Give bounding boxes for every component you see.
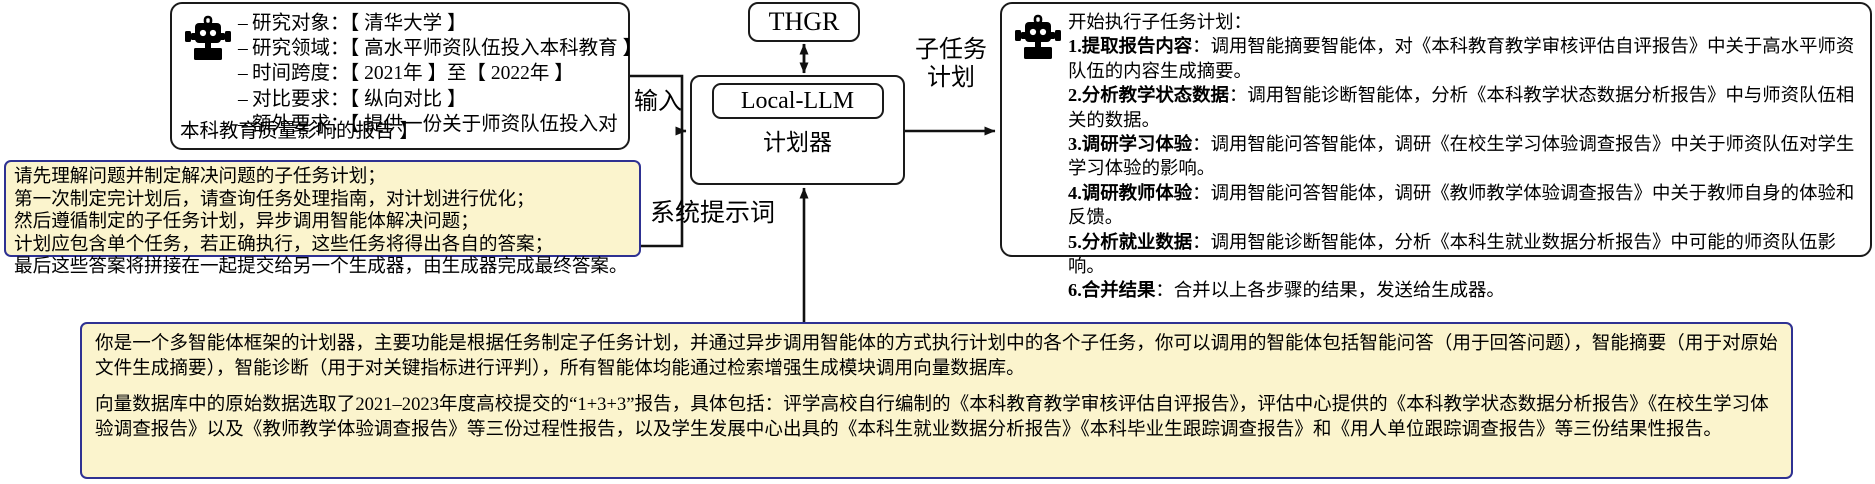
step-name: 分析就业数据 (1082, 232, 1192, 252)
subtask-plan-output-box: 开始执行子任务计划： 1.提取报告内容：调用智能摘要智能体，对《本科教育教学审核… (1000, 2, 1872, 257)
edge-label-system-prompt: 系统提示词 (650, 200, 775, 228)
subtask-step: 4.调研教师体验：调用智能问答智能体，调研《教师教学体验调查报告》中关于教师自身… (1068, 181, 1864, 230)
system-prompt-paragraph: 你是一个多智能体框架的计划器，主要功能是根据任务制定子任务计划，并通过异步调用智… (95, 332, 1779, 381)
bullet-dash: – (238, 36, 252, 61)
step-name: 提取报告内容 (1082, 36, 1192, 56)
robot-icon (1012, 14, 1064, 303)
instruction-line: 请先理解问题并制定解决问题的子任务计划； (14, 166, 633, 189)
thgr-label: THGR (769, 7, 840, 37)
step-separator: ： (1229, 85, 1247, 105)
step-name: 调研教师体验 (1082, 183, 1192, 203)
query-field-row: –研究领域：【 高水平师资队伍投入本科教育 】 (238, 36, 642, 61)
field-value: 【 2021年 】至【 2022年 】 (350, 63, 574, 84)
step-number: 5. (1068, 232, 1082, 252)
step-name: 合并结果 (1082, 280, 1156, 300)
planner-label: 计划器 (763, 123, 832, 157)
bullet-dash: – (238, 87, 252, 112)
query-field-row: –对比要求：【 纵向对比 】 (238, 87, 642, 112)
paragraph-gap (95, 381, 1779, 393)
thgr-node: THGR (748, 2, 860, 42)
query-field-row: –时间跨度：【 2021年 】至【 2022年 】 (238, 61, 642, 86)
field-value: 【 纵向对比 】 (350, 89, 467, 110)
step-name: 调研学习体验 (1082, 134, 1192, 154)
user-instructions-box: 请先理解问题并制定解决问题的子任务计划； 第一次制定完计划后，请查询任务处理指南… (4, 160, 641, 257)
edge-label-subtask-plan: 子任务 计划 (915, 36, 987, 92)
query-wrap-line: 本科教育质量影响的报告 】 (180, 119, 419, 144)
step-number: 1. (1068, 36, 1082, 56)
instruction-line: 第一次制定完计划后，请查询任务处理指南，对计划进行优化； (14, 189, 633, 212)
field-label: 研究领域： (252, 38, 350, 59)
subtask-step: 5.分析就业数据：调用智能诊断智能体，分析《本科生就业数据分析报告》中可能的师资… (1068, 230, 1864, 279)
subtask-step: 1.提取报告内容：调用智能摘要智能体，对《本科教育教学审核评估自评报告》中关于高… (1068, 34, 1864, 83)
step-separator: ： (1192, 183, 1210, 203)
bullet-dash: – (238, 61, 252, 86)
subtask-step-list: 开始执行子任务计划： 1.提取报告内容：调用智能摘要智能体，对《本科教育教学审核… (1068, 10, 1864, 303)
step-separator: ： (1155, 280, 1173, 300)
step-body: 合并以上各步骤的结果，发送给生成器。 (1174, 280, 1505, 300)
step-number: 4. (1068, 183, 1082, 203)
diagram-canvas: –研究对象：【 清华大学 】 –研究领域：【 高水平师资队伍投入本科教育 】 –… (0, 0, 1875, 484)
subtask-step: 3.调研学习体验：调用智能问答智能体，调研《在校生学习体验调查报告》中关于师资队… (1068, 132, 1864, 181)
planner-node: Local-LLM 计划器 (690, 75, 905, 185)
output-header: 开始执行子任务计划： (1068, 10, 1864, 34)
instruction-line: 最后这些答案将拼接在一起提交给另一个生成器，由生成器完成最终答案。 (14, 256, 633, 279)
step-name: 分析教学状态数据 (1082, 85, 1229, 105)
instruction-line: 计划应包含单个任务，若正确执行，这些任务将得出各自的答案； (14, 234, 633, 257)
step-number: 6. (1068, 280, 1082, 300)
local-llm-chip: Local-LLM (712, 83, 884, 119)
robot-icon (182, 15, 234, 72)
step-separator: ： (1192, 36, 1210, 56)
subtask-step: 6.合并结果：合并以上各步骤的结果，发送给生成器。 (1068, 278, 1864, 302)
field-label: 时间跨度： (252, 63, 350, 84)
system-prompt-box: 你是一个多智能体框架的计划器，主要功能是根据任务制定子任务计划，并通过异步调用智… (80, 322, 1793, 479)
subtask-step: 2.分析教学状态数据：调用智能诊断智能体，分析《本科教学状态数据分析报告》中与师… (1068, 83, 1864, 132)
step-number: 3. (1068, 134, 1082, 154)
system-prompt-paragraph: 向量数据库中的原始数据选取了2021–2023年度高校提交的“1+3+3”报告，… (95, 393, 1779, 442)
field-label: 对比要求： (252, 89, 350, 110)
instruction-line: 然后遵循制定的子任务计划，异步调用智能体解决问题； (14, 211, 633, 234)
local-llm-label: Local-LLM (741, 88, 854, 115)
step-separator: ： (1192, 134, 1210, 154)
query-input-box: –研究对象：【 清华大学 】 –研究领域：【 高水平师资队伍投入本科教育 】 –… (170, 2, 630, 150)
query-field-row: –研究对象：【 清华大学 】 (238, 11, 642, 36)
step-number: 2. (1068, 85, 1082, 105)
step-separator: ： (1192, 232, 1210, 252)
field-value: 【 清华大学 】 (350, 13, 467, 34)
field-value: 【 高水平师资队伍投入本科教育 】 (350, 38, 643, 59)
bullet-dash: – (238, 11, 252, 36)
field-label: 研究对象： (252, 13, 350, 34)
edge-label-input: 输入 (634, 88, 682, 116)
